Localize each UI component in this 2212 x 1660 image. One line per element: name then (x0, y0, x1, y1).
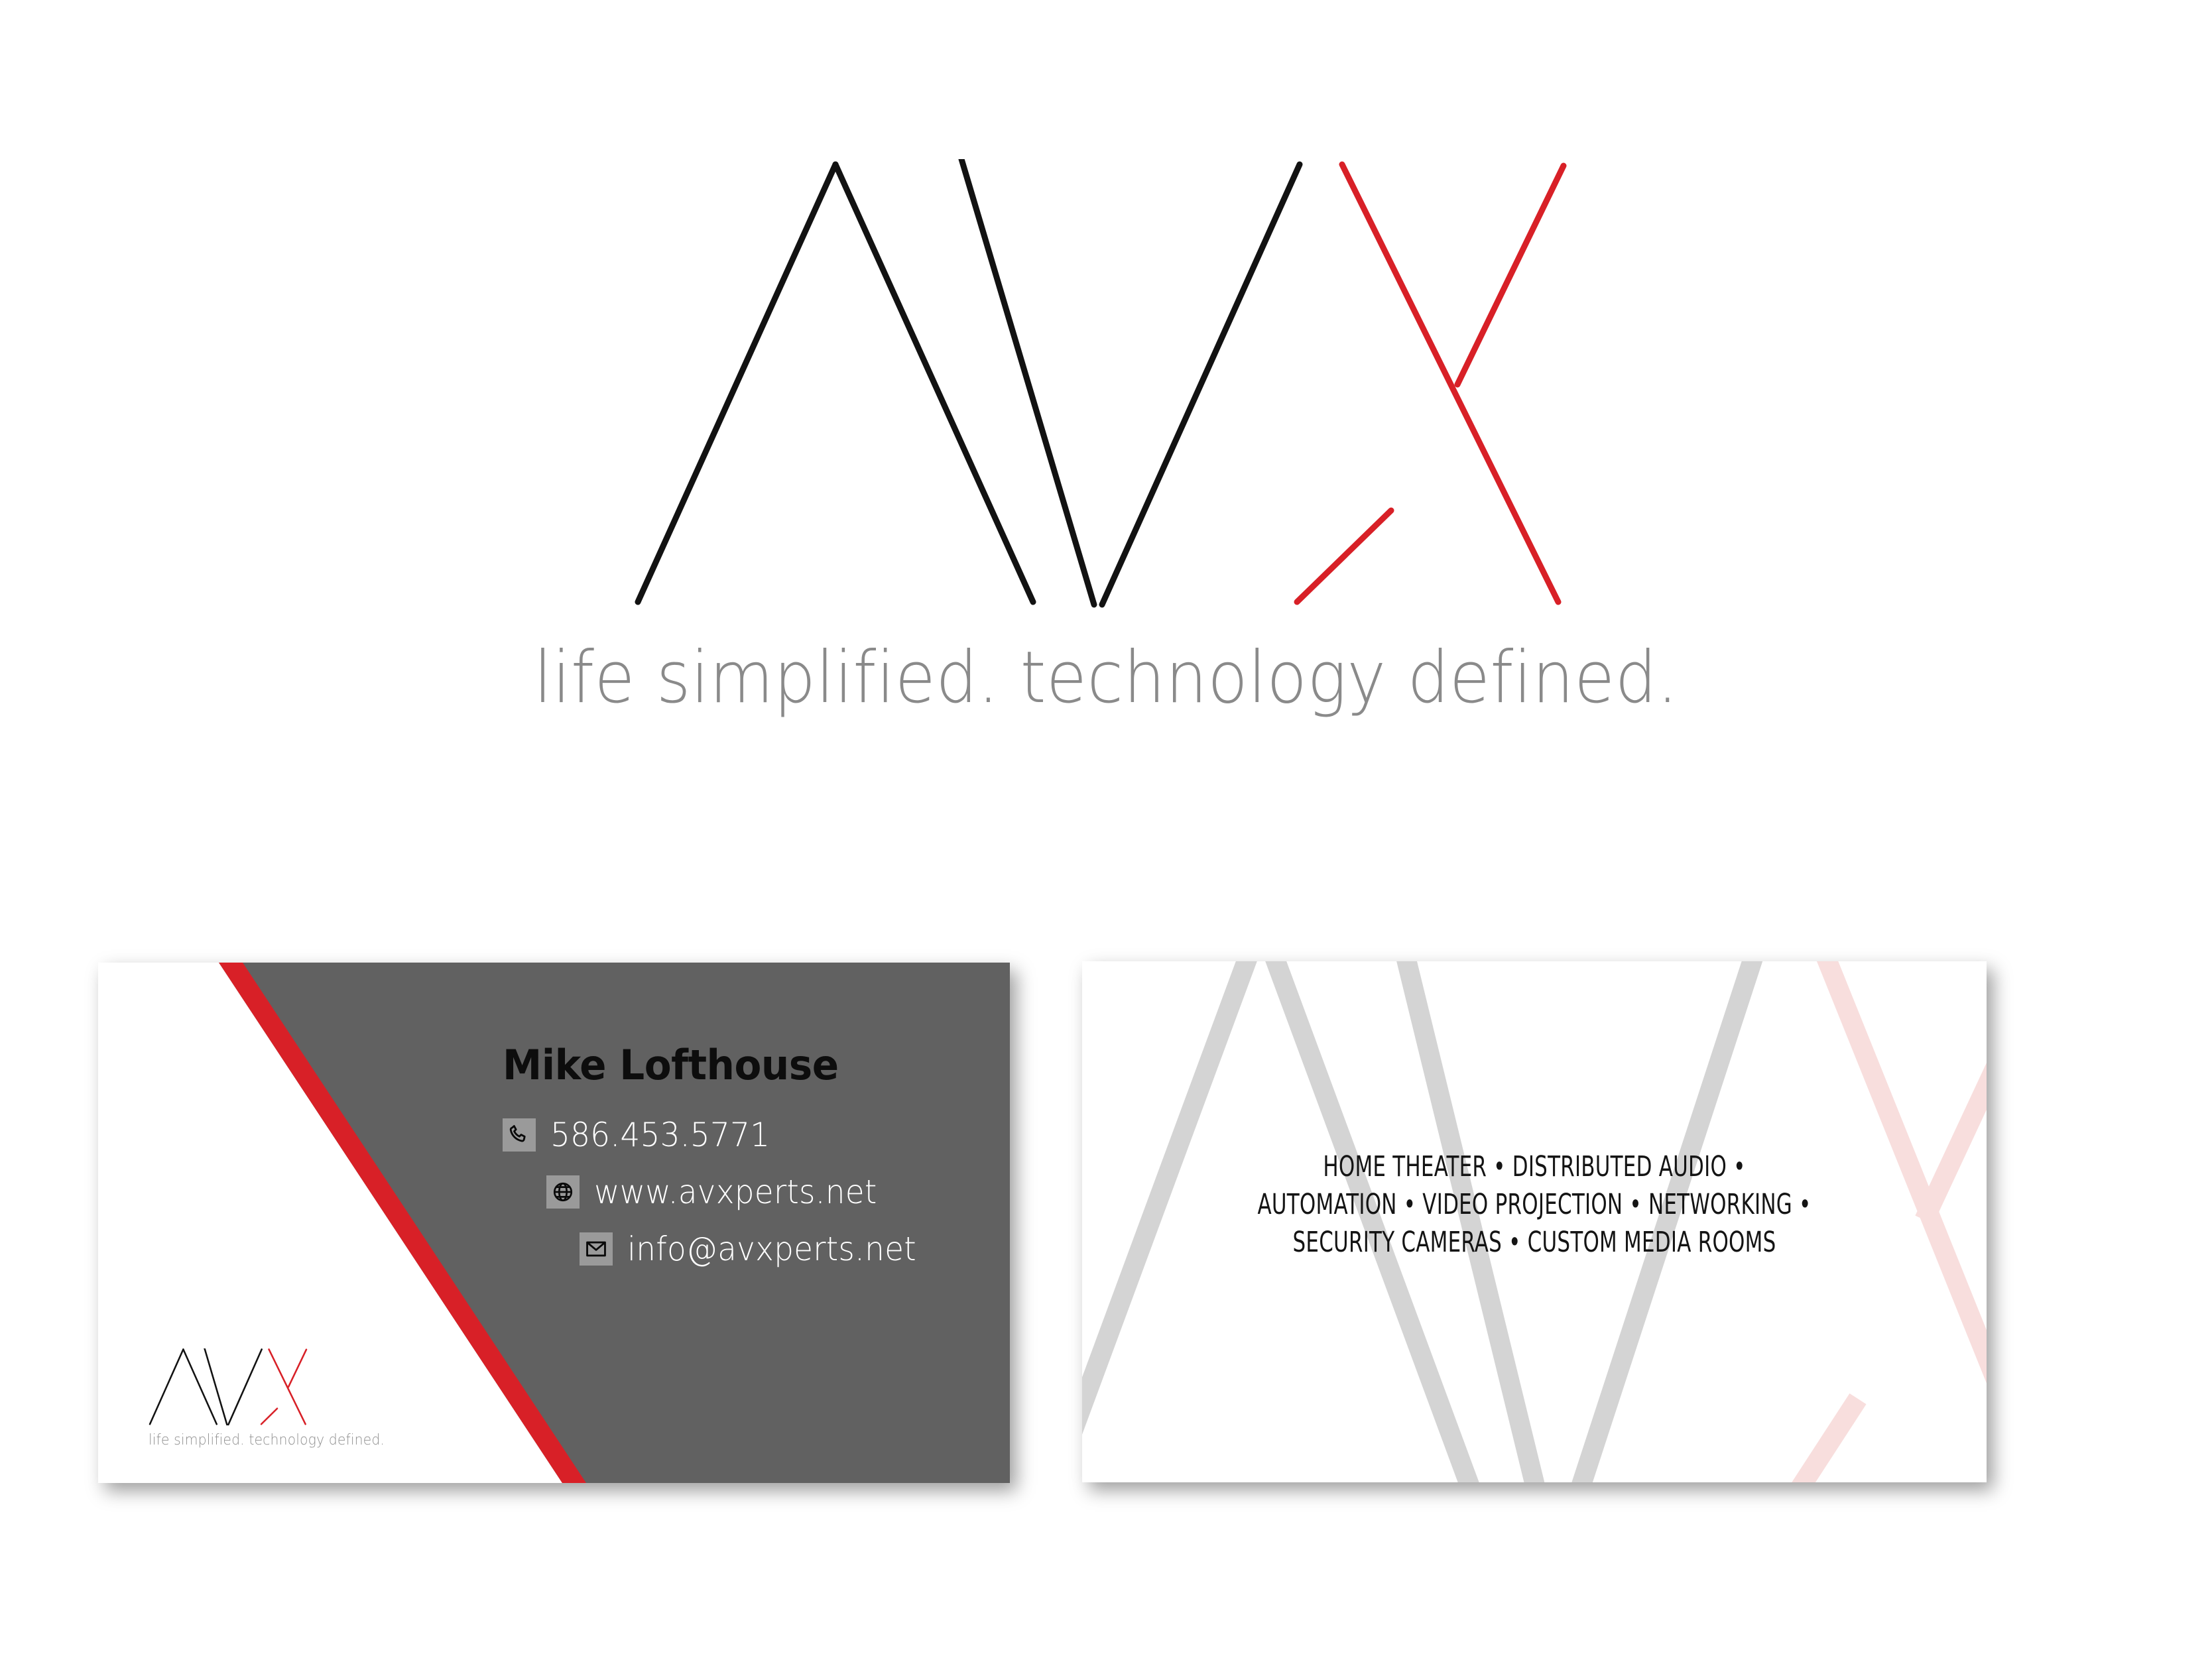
services-list: HOME THEATER • DISTRIBUTED AUDIO • AUTOM… (1082, 1148, 1987, 1261)
avx-logo-mark (630, 159, 1571, 617)
mini-logo-tagline: life simplified. technology defined. (149, 1432, 346, 1449)
main-tagline: life simplified. technology defined. (88, 636, 2123, 719)
website-url: www.avxperts.net (594, 1173, 877, 1211)
avx-logo-mark-small (149, 1348, 308, 1427)
contact-block: Mike Lofthouse 586.453.5771 www.avxperts… (503, 1041, 993, 1287)
card-holder-name: Mike Lofthouse (503, 1041, 973, 1089)
services-line-1: HOME THEATER • DISTRIBUTED AUDIO • (1209, 1148, 1859, 1186)
services-line-3: SECURITY CAMERAS • CUSTOM MEDIA ROOMS (1209, 1224, 1859, 1262)
email-address: info@avxperts.net (627, 1230, 916, 1268)
mini-logo-block: life simplified. technology defined. (149, 1348, 361, 1449)
contact-row-phone[interactable]: 586.453.5771 (503, 1116, 993, 1154)
services-line-2: AUTOMATION • VIDEO PROJECTION • NETWORKI… (1209, 1186, 1859, 1224)
business-card-front: Mike Lofthouse 586.453.5771 www.avxperts… (98, 963, 1010, 1483)
contact-row-email[interactable]: info@avxperts.net (580, 1230, 993, 1268)
globe-icon (546, 1175, 580, 1209)
envelope-icon (580, 1232, 613, 1266)
business-card-back: HOME THEATER • DISTRIBUTED AUDIO • AUTOM… (1082, 961, 1987, 1482)
main-logo-block: life simplified. technology defined. (0, 0, 2212, 769)
contact-row-website[interactable]: www.avxperts.net (546, 1173, 993, 1211)
phone-icon (503, 1118, 536, 1152)
phone-number: 586.453.5771 (550, 1116, 770, 1154)
